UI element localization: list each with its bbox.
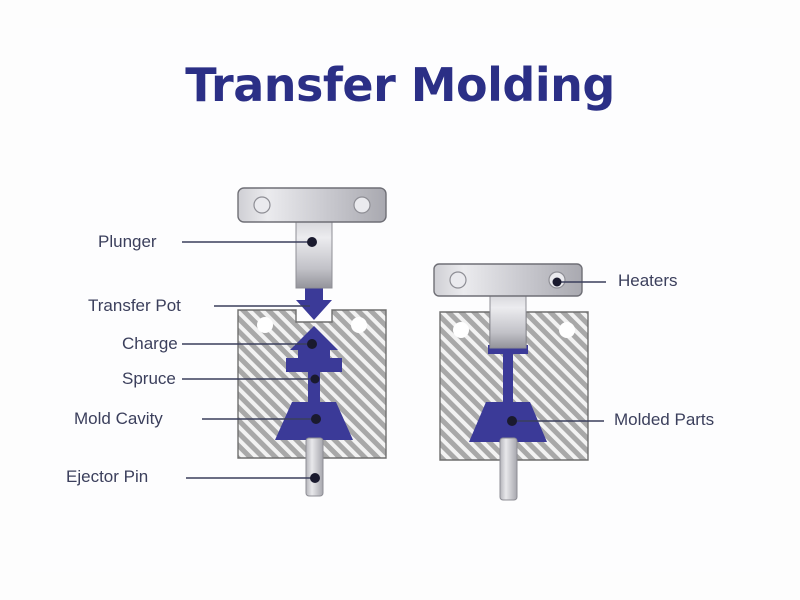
top-plate-left	[238, 188, 386, 222]
label-mold-cavity: Mold Cavity	[74, 409, 163, 429]
ejector-pin-shape	[306, 438, 323, 496]
label-heaters: Heaters	[618, 271, 678, 291]
heater-hole-right-2	[559, 322, 575, 338]
plunger-shaft-right	[490, 292, 526, 348]
plate-hole-left-1	[254, 197, 270, 213]
ejector-pin-shape-right	[500, 438, 517, 500]
sprue-shape-right	[503, 352, 513, 406]
diagram-right-closed-stage	[434, 264, 588, 500]
heater-hole-left-1	[257, 317, 273, 333]
down-arrow-icon	[296, 284, 332, 320]
leader-dot-mold-cavity	[311, 414, 321, 424]
label-spruce: Spruce	[122, 369, 176, 389]
leader-dot-charge	[307, 339, 317, 349]
pressure-arrow	[296, 284, 332, 320]
label-ejector-pin: Ejector Pin	[66, 467, 148, 487]
plunger-shaft	[296, 218, 332, 288]
leader-dot-heaters	[553, 278, 562, 287]
heater-hole-right-1	[453, 322, 469, 338]
label-molded-parts: Molded Parts	[614, 410, 714, 430]
ejector-pin-group	[306, 438, 323, 496]
plate-hole-right-1	[450, 272, 466, 288]
sprue-shape	[308, 366, 320, 408]
label-transfer-pot: Transfer Pot	[88, 296, 181, 316]
leader-dot-ejector-pin	[310, 473, 320, 483]
leader-dot-plunger	[307, 237, 317, 247]
label-charge: Charge	[122, 334, 178, 354]
leader-dot-spruce	[311, 375, 320, 384]
label-plunger: Plunger	[98, 232, 157, 252]
leader-dot-molded-parts	[507, 416, 517, 426]
plate-hole-left-2	[354, 197, 370, 213]
heater-hole-left-2	[351, 317, 367, 333]
diagram-canvas: Transfer Molding	[0, 0, 800, 600]
